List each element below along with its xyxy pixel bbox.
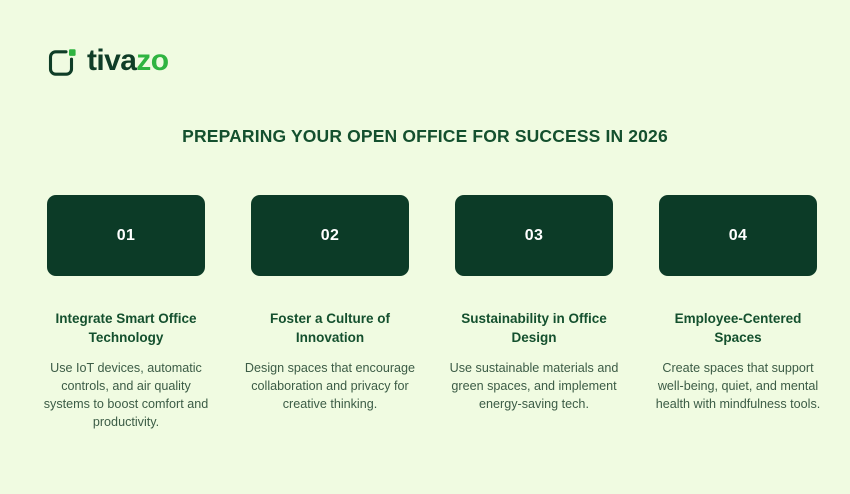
step-number: 03	[525, 228, 544, 244]
brand-wordmark-primary: tiva	[87, 44, 136, 77]
step-card: 03 Sustainability in Office Design Use s…	[455, 195, 613, 432]
step-heading: Sustainability in Office Design	[448, 309, 620, 347]
step-heading: Integrate Smart Office Technology	[40, 309, 212, 347]
step-heading: Foster a Culture of Innovation	[244, 309, 416, 347]
brand-logo[interactable]: tivazo	[47, 41, 168, 81]
brand-wordmark: tivazo	[87, 46, 168, 76]
step-description: Use IoT devices, automatic controls, and…	[38, 360, 214, 432]
steps-row: 01 Integrate Smart Office Technology Use…	[47, 195, 817, 432]
page-title: PREPARING YOUR OPEN OFFICE FOR SUCCESS I…	[0, 126, 850, 147]
infographic-page: tivazo PREPARING YOUR OPEN OFFICE FOR SU…	[0, 0, 850, 494]
step-card: 04 Employee-Centered Spaces Create space…	[659, 195, 817, 432]
step-card: 02 Foster a Culture of Innovation Design…	[251, 195, 409, 432]
step-description: Create spaces that support well-being, q…	[650, 360, 826, 414]
step-number-badge: 04	[659, 195, 817, 276]
step-number-badge: 03	[455, 195, 613, 276]
step-description: Use sustainable materials and green spac…	[446, 360, 622, 414]
step-heading: Employee-Centered Spaces	[652, 309, 824, 347]
tivazo-bracket-icon	[47, 46, 78, 77]
step-number: 01	[117, 228, 136, 244]
step-description: Design spaces that encourage collaborati…	[242, 360, 418, 414]
step-number-badge: 01	[47, 195, 205, 276]
step-number: 04	[729, 228, 748, 244]
step-card: 01 Integrate Smart Office Technology Use…	[47, 195, 205, 432]
step-number-badge: 02	[251, 195, 409, 276]
brand-wordmark-accent: zo	[136, 44, 168, 77]
step-number: 02	[321, 228, 340, 244]
